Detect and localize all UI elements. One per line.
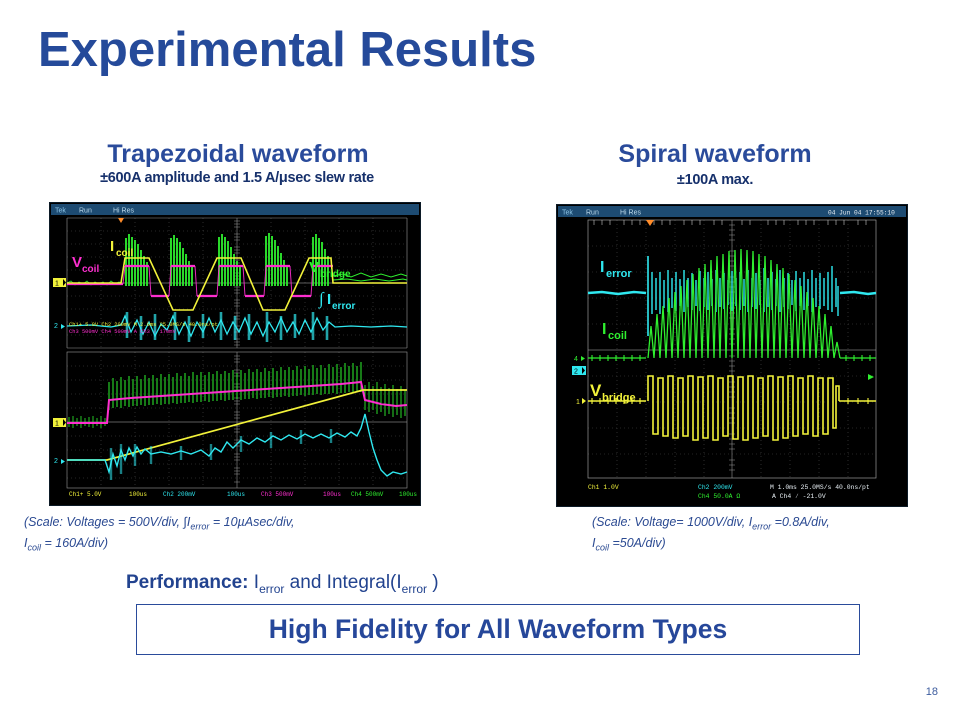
svg-text:I: I	[110, 238, 114, 255]
left-caption-sub1: error	[190, 522, 209, 532]
right-caption-sub2: coil	[595, 543, 609, 553]
svg-text:1: 1	[55, 421, 59, 428]
svg-text:bridge: bridge	[602, 392, 636, 404]
conclusion-box: High Fidelity for All Waveform Types	[136, 604, 860, 655]
oscilloscope-screenshot-trapezoidal: Tek Run Hi Res	[50, 203, 420, 505]
conclusion-text: High Fidelity for All Waveform Types	[269, 614, 727, 645]
right-panel-heading: Spiral waveform	[570, 140, 860, 169]
scope-left-status-upper2: Ch3 500mV Ch4 500mV A Ch3 ∕ 170mV	[69, 329, 177, 335]
svg-text:100us: 100us	[227, 491, 245, 498]
performance-line: Performance: Ierror and Integral(Ierror …	[126, 572, 439, 596]
right-caption-part1: (Scale: Voltage= 1000V/div, I	[592, 515, 752, 529]
scope-right-graticule: 4 2 1 I error I coil V bridge	[572, 220, 876, 478]
svg-text:1: 1	[55, 281, 59, 288]
svg-text:1: 1	[576, 399, 580, 406]
performance-suffix: )	[427, 572, 439, 593]
svg-text:100us: 100us	[129, 491, 147, 498]
svg-text:Ch3 500mV: Ch3 500mV	[261, 491, 294, 498]
svg-text:M 1.0ms 25.0MS/s 40.0ns/pt: M 1.0ms 25.0MS/s 40.0ns/pt	[770, 484, 870, 491]
right-caption-part1b: =0.8A/div,	[771, 515, 829, 529]
svg-text:A Ch4 ∕ -21.0V: A Ch4 ∕ -21.0V	[772, 493, 826, 500]
left-panel-heading: Trapezoidal waveform	[70, 140, 406, 169]
oscilloscope-screenshot-spiral: Tek Run Hi Res 04 Jun 04 17:55:10	[557, 205, 907, 506]
svg-text:V: V	[72, 254, 82, 271]
right-panel-caption: (Scale: Voltage= 1000V/div, Ierror =0.8A…	[592, 513, 830, 556]
performance-sub1: error	[259, 582, 284, 596]
scope-right-header-mode: Hi Res	[620, 210, 642, 217]
page-number: 18	[926, 686, 938, 698]
scope-left-header-tek: Tek	[55, 208, 66, 215]
slide-canvas: Experimental Results Trapezoidal wavefor…	[0, 0, 960, 720]
performance-mid: and Integral(I	[284, 572, 401, 593]
scope-right-header-tek: Tek	[562, 210, 573, 217]
left-caption-sub2: coil	[27, 543, 41, 553]
svg-text:2: 2	[574, 369, 578, 376]
svg-text:coil: coil	[608, 330, 627, 342]
svg-text:error: error	[606, 268, 632, 280]
scope-left-lower-graticule: 1 2	[53, 352, 407, 488]
right-caption-sub1: error	[752, 522, 771, 532]
svg-text:Ch1 1.0V: Ch1 1.0V	[588, 484, 619, 491]
performance-sub2: error	[402, 582, 427, 596]
svg-text:V: V	[590, 381, 602, 400]
svg-text:V: V	[309, 259, 319, 276]
scope-left-upper-graticule: 1 2 V coil I coil V bridge ∫ I error	[53, 218, 407, 348]
svg-text:2: 2	[54, 458, 58, 465]
svg-text:coil: coil	[82, 264, 99, 275]
scope-left-header-run: Run	[79, 208, 92, 215]
page-title: Experimental Results	[38, 22, 536, 78]
svg-text:error: error	[332, 301, 355, 312]
svg-text:100us: 100us	[399, 491, 417, 498]
scope-right-header-run: Run	[586, 210, 599, 217]
left-panel-subheading: ±600A amplitude and 1.5 A/μsec slew rate	[22, 170, 452, 186]
left-caption-part2b: = 160A/div)	[41, 536, 108, 550]
scope-left-status-upper: Ch1+ 5.0V Ch2 200mV M 2.0ms 25.0MS/s 40.…	[69, 322, 218, 328]
performance-label: Performance:	[126, 572, 249, 593]
svg-text:Ch2 200mV: Ch2 200mV	[698, 484, 733, 491]
scope-right-header-timestamp: 04 Jun 04 17:55:10	[828, 210, 895, 217]
svg-text:Ch2 200mV: Ch2 200mV	[163, 491, 196, 498]
svg-text:I: I	[327, 291, 331, 308]
svg-text:100us: 100us	[323, 491, 341, 498]
scope-left-header-mode: Hi Res	[113, 208, 135, 215]
svg-text:Ch4 500mV: Ch4 500mV	[351, 491, 384, 498]
svg-text:4: 4	[574, 356, 578, 363]
svg-text:Ch1+ 5.0V: Ch1+ 5.0V	[69, 491, 102, 498]
left-caption-part1: (Scale: Voltages = 500V/div, ∫I	[24, 515, 190, 529]
right-caption-part2b: =50A/div)	[609, 536, 666, 550]
left-panel-caption: (Scale: Voltages = 500V/div, ∫Ierror = 1…	[24, 513, 295, 556]
left-caption-part1b: = 10µAsec/div,	[209, 515, 294, 529]
performance-i1: I	[249, 572, 260, 593]
svg-text:coil: coil	[116, 248, 133, 259]
svg-text:bridge: bridge	[320, 269, 351, 280]
svg-text:2: 2	[54, 323, 58, 330]
svg-text:I: I	[600, 259, 604, 276]
right-panel-subheading: ±100A max.	[570, 172, 860, 188]
svg-text:I: I	[602, 321, 606, 338]
svg-text:Ch4 50.0A Ω: Ch4 50.0A Ω	[698, 493, 740, 500]
